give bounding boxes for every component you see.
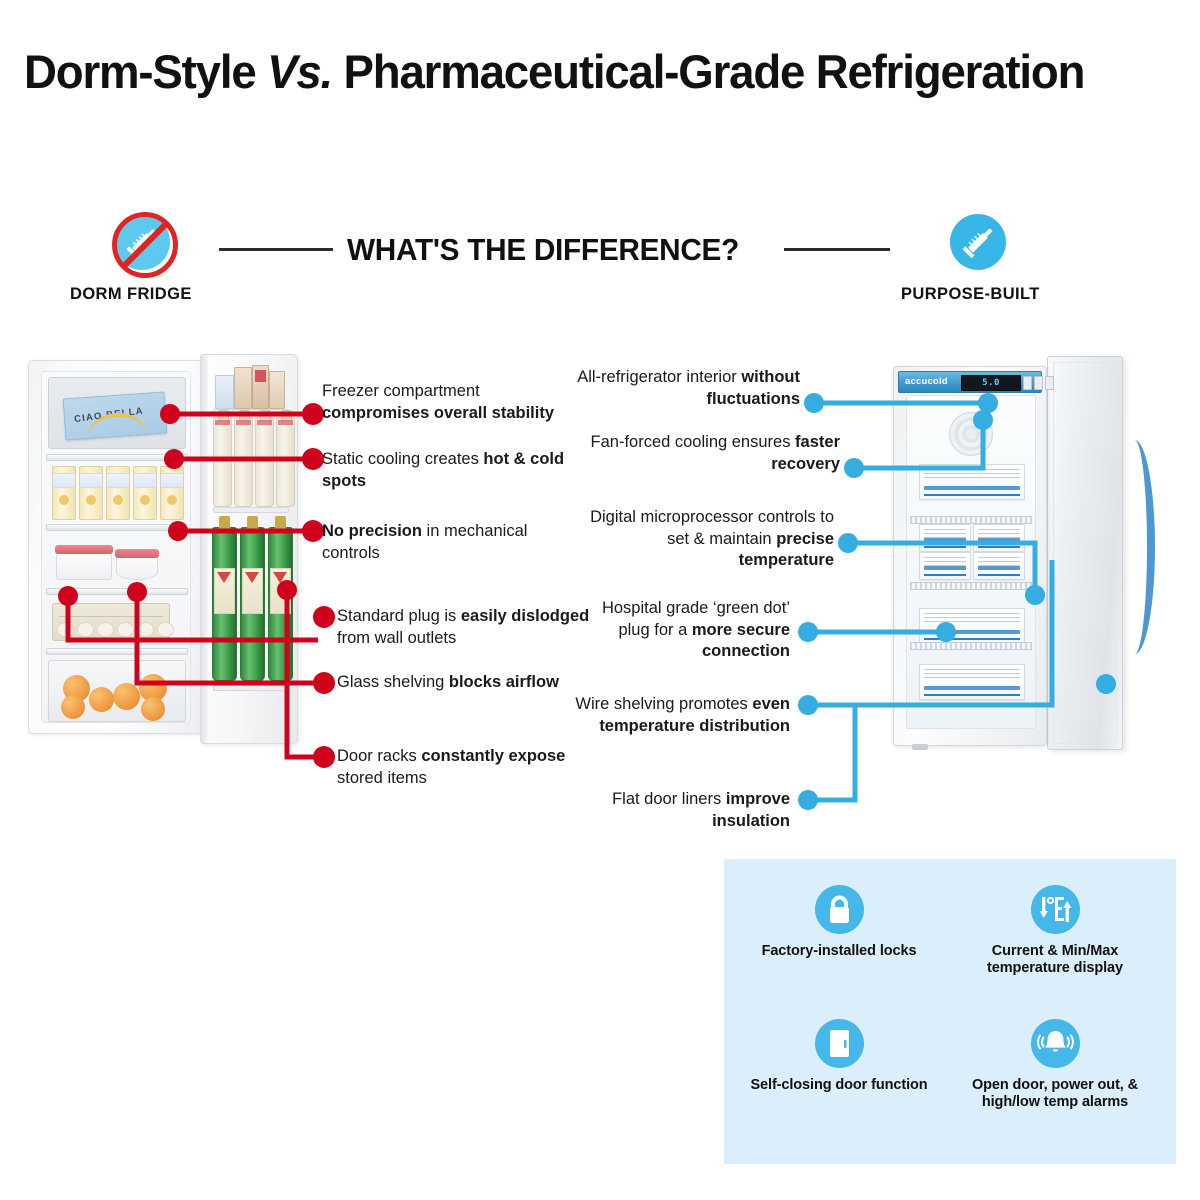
door-icon (815, 1019, 864, 1068)
page-title: Dorm-Style Vs. Pharmaceutical-Grade Refr… (24, 44, 1149, 100)
food-container (56, 548, 112, 580)
no-vaccine-icon (114, 214, 170, 270)
vaccine-box (919, 664, 1025, 700)
crisper-drawer (48, 660, 186, 722)
callout-pharma-1: All-refrigerator interior without fluctu… (560, 367, 800, 410)
feature-alarms: Open door, power out, & high/low temp al… (952, 1019, 1158, 1111)
vaccine-box (973, 524, 1025, 552)
control-panel: accucold 5.0 (898, 371, 1042, 393)
wire-shelf (910, 516, 1032, 524)
callout-pharma-4: Hospital grade ‘green dot’ plug for a mo… (575, 598, 790, 663)
band-rule-right (784, 248, 890, 251)
food-container (116, 552, 158, 580)
glass-shelf (46, 648, 188, 655)
callout-dorm-6: Door racks constantly expose stored item… (337, 746, 599, 789)
feature-self-closing-door: Self-closing door function (736, 1019, 942, 1094)
glass-shelf (46, 524, 188, 531)
temperature-display: 5.0 (961, 375, 1021, 391)
title-part1: Dorm-Style (24, 45, 267, 98)
feature-caption: Self-closing door function (736, 1077, 942, 1094)
callout-pharma-6: Flat door liners improve insulation (570, 789, 790, 832)
cooling-fan (949, 412, 993, 456)
door-rack-top (215, 365, 283, 409)
freezer-compartment: CIAO BELLA (48, 377, 186, 449)
callout-dorm-3: No precision in mechanical controls (322, 521, 562, 564)
feature-factory-locks: Factory-installed locks (736, 885, 942, 960)
feature-caption: Current & Min/Max temperature display (952, 943, 1158, 977)
vaccine-box (973, 552, 1025, 580)
vaccine-box (919, 552, 971, 580)
title-emphasis: Vs. (267, 45, 332, 98)
vaccine-box (919, 524, 971, 552)
door-handle (1121, 440, 1155, 654)
band-rule-left (219, 248, 333, 251)
band-title: WHAT'S THE DIFFERENCE? (347, 232, 739, 268)
callout-pharma-2: Fan-forced cooling ensures faster recove… (570, 432, 840, 475)
feature-caption: Open door, power out, & high/low temp al… (952, 1077, 1158, 1111)
wire-shelf (910, 582, 1032, 590)
callout-pharma-3: Digital microprocessor controls to set &… (570, 507, 834, 572)
dorm-fridge-image: CIAO BELLA (18, 352, 313, 752)
egg-carton (52, 603, 170, 641)
syringe-icon (950, 214, 1006, 270)
wire-shelf (910, 642, 1032, 650)
callout-dorm-2: Static cooling creates hot & cold spots (322, 449, 567, 492)
dorm-fridge-label: DORM FRIDGE (70, 285, 192, 304)
ice-cream-box: CIAO BELLA (63, 391, 168, 440)
drink-cans (52, 466, 184, 520)
vaccine-box (919, 464, 1025, 500)
title-part2: Pharmaceutical-Grade Refrigeration (332, 45, 1084, 98)
control-buttons[interactable] (1023, 376, 1054, 390)
dorm-fridge-door (200, 354, 298, 744)
callout-dorm-5: Glass shelving blocks airflow (337, 672, 599, 694)
green-bottles (212, 527, 293, 681)
pharmaceutical-fridge-image: accucold 5.0 (885, 362, 1185, 752)
callout-pharma-5: Wire shelving promotes even temperature … (570, 694, 790, 737)
glass-shelf (46, 454, 188, 461)
alarm-bell-icon (1031, 1019, 1080, 1068)
padlock-icon (815, 885, 864, 934)
door-rack (213, 685, 289, 691)
brand-logo: accucold (905, 376, 948, 387)
purpose-built-label: PURPOSE-BUILT (901, 285, 1040, 304)
thermometer-icon (1031, 885, 1080, 934)
pharma-fridge-door (1047, 356, 1123, 750)
feature-caption: Factory-installed locks (736, 943, 942, 960)
feature-temperature-display: Current & Min/Max temperature display (952, 885, 1158, 977)
features-panel: Factory-installed locks (724, 859, 1176, 1164)
door-bottles (213, 417, 295, 507)
temperature-value: 5.0 (982, 378, 1000, 388)
callout-dorm-1: Freezer compartment compromises overall … (322, 381, 584, 424)
vaccine-box (919, 608, 1025, 644)
prohibition-ring (112, 212, 178, 278)
glass-shelf (46, 588, 188, 595)
infographic-canvas: Dorm-Style Vs. Pharmaceutical-Grade Refr… (0, 0, 1200, 1200)
callout-dorm-4: Standard plug is easily dislodged from w… (337, 606, 592, 649)
door-rack (213, 507, 289, 513)
